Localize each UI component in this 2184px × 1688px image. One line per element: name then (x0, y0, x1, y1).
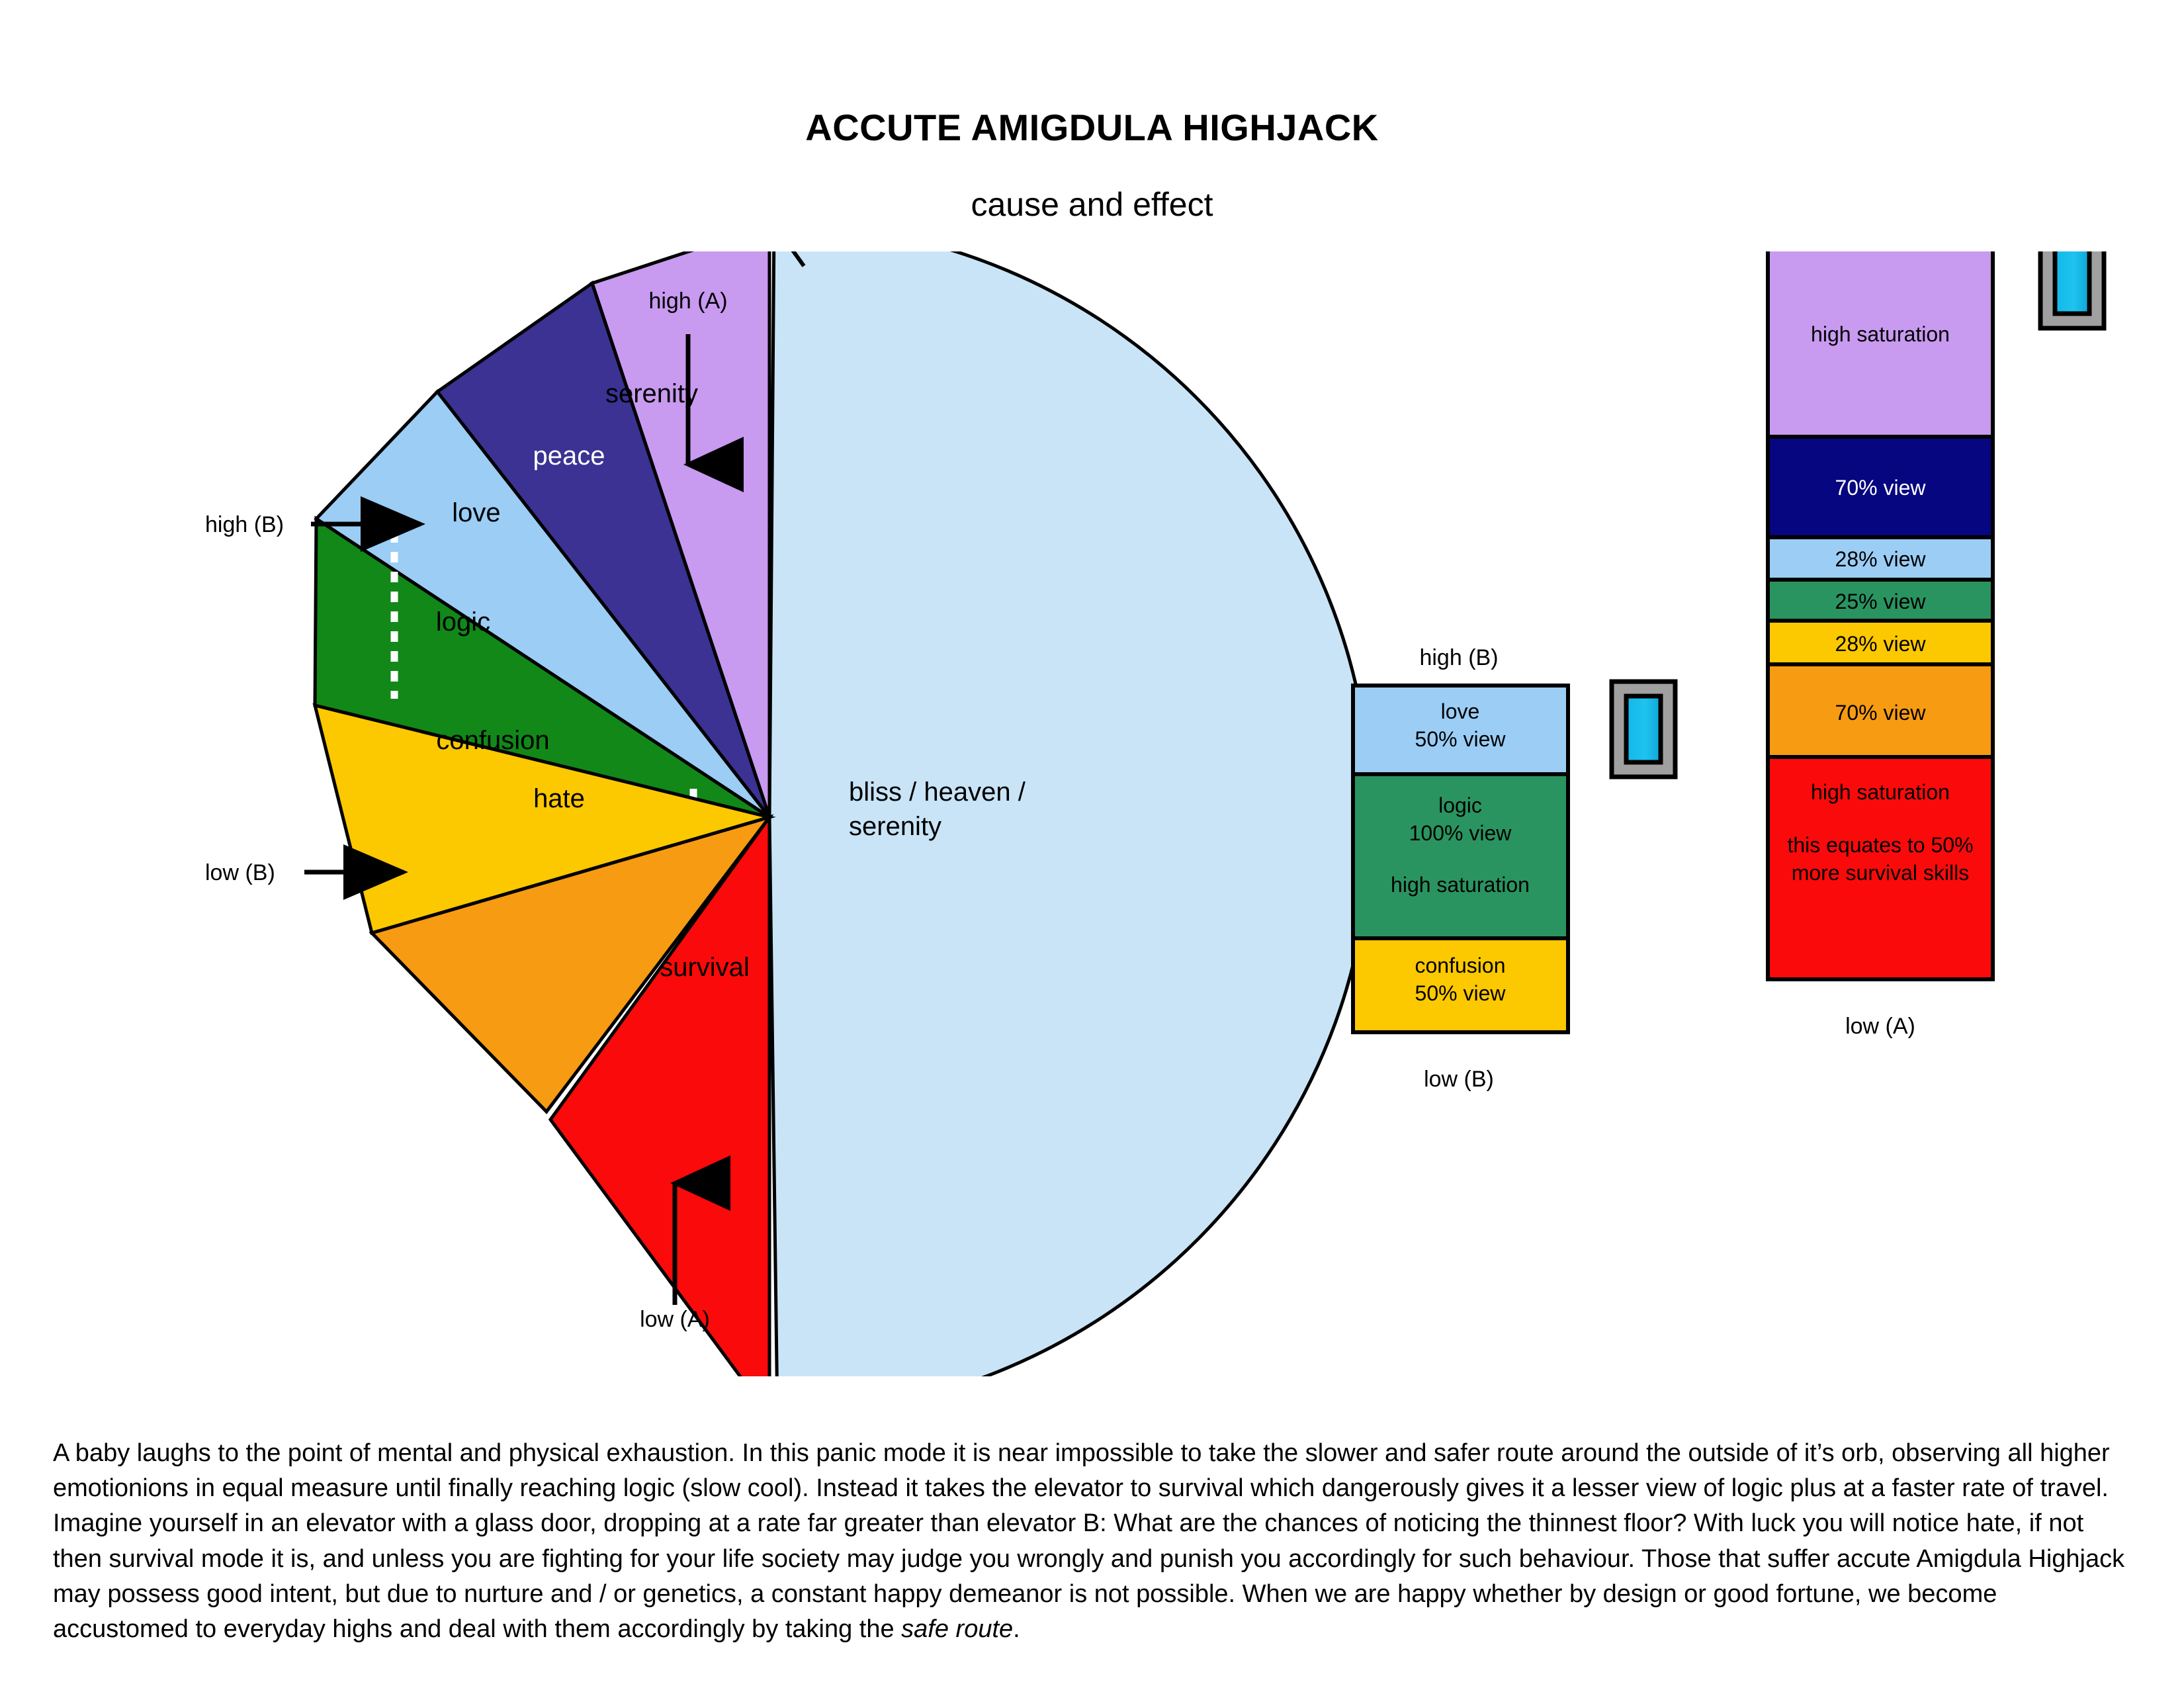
pie-label-confusion: confusion (436, 726, 549, 755)
elevator-a-floor-hate-line1: 70% view (1835, 701, 1927, 725)
elevator-b-floor-logic-line3: high saturation (1391, 873, 1530, 897)
pie-label-peace: peace (533, 441, 605, 470)
page-title: ACCUTE AMIGDULA HIGHJACK (0, 106, 2184, 149)
elevator-a-floor-confusion[interactable]: 28% view (1768, 621, 1993, 664)
elevator-a-bottom-label: low (A) (1845, 1014, 1915, 1039)
elevator-a-floor-survival[interactable]: high saturation this equates to 50% more… (1768, 757, 1993, 979)
pie-label-survival: survival (660, 953, 750, 982)
elevator-a-floor-serenity[interactable]: high saturation (1768, 251, 1993, 437)
elevator-b-icon[interactable] (1612, 682, 1675, 777)
pie-label-love: love (452, 498, 500, 527)
diagram-canvas: bliss / heaven / serenity serenity peace… (0, 251, 2184, 1376)
pie-label-hate: hate (533, 784, 585, 813)
pie-center-label-line2: serenity (849, 812, 941, 841)
footer-paragraph-italic: safe route (901, 1615, 1013, 1643)
elevator-a-floor-confusion-line1: 28% view (1835, 632, 1927, 656)
elevator-a-floor-love[interactable]: 28% view (1768, 537, 1993, 580)
elevator-a-floor-logic[interactable]: 25% view (1768, 580, 1993, 621)
elevator-b-floor-love-line1: love (1441, 699, 1480, 723)
page-subtitle: cause and effect (0, 185, 2184, 224)
pie-arrow-label-low-a: low (A) (640, 1307, 710, 1332)
elevator-a-floor-peace[interactable]: 70% view (1768, 437, 1993, 537)
pie-arrow-label-low-b: low (B) (205, 860, 275, 885)
elevator-b-floor-logic-line2: 100% view (1409, 821, 1512, 845)
elevator-a-floor-logic-line1: 25% view (1835, 590, 1927, 613)
elevator-b-floor-confusion-line1: confusion (1415, 954, 1506, 977)
elevator-b-floor-logic-line1: logic (1438, 793, 1482, 817)
elevator-a-floor-survival-line3: more survival skills (1792, 861, 1969, 885)
elevator-b-floor-logic[interactable]: logic 100% view high saturation (1353, 774, 1568, 938)
elevator-a-icon[interactable] (2040, 251, 2104, 328)
elevator-b-top-label: high (B) (1419, 645, 1498, 670)
footer-paragraph: A baby laughs to the point of mental and… (53, 1436, 2130, 1647)
elevator-a-floor-survival-line1: high saturation (1811, 780, 1950, 804)
elevator-b-floor-love[interactable]: love 50% view (1353, 686, 1568, 774)
elevator-a-floor-hate[interactable]: 70% view (1768, 664, 1993, 757)
footer-paragraph-part2: . (1013, 1615, 1020, 1643)
elevator-b-floor-confusion-line2: 50% view (1415, 981, 1507, 1005)
footer-paragraph-part1: A baby laughs to the point of mental and… (53, 1439, 2124, 1643)
elevator-b-floor-confusion[interactable]: confusion 50% view (1353, 938, 1568, 1032)
pie-arrow-label-high-a: high (A) (648, 289, 727, 314)
elevator-a-floor-serenity-line1: high saturation (1811, 322, 1950, 346)
elevator-b-bottom-label: low (B) (1424, 1067, 1494, 1092)
pie-arrow-label-high-b: high (B) (205, 512, 284, 537)
elevator-a-floor-peace-line1: 70% view (1835, 476, 1927, 500)
elevator-a-floor-love-line1: 28% view (1835, 547, 1927, 571)
pie-label-serenity: serenity (605, 379, 698, 408)
pie-label-logic: logic (436, 607, 490, 637)
elevator-a-floor-survival-line2: this equates to 50% (1787, 833, 1973, 857)
elevator-b-floor-love-line2: 50% view (1415, 727, 1507, 751)
pie-center-label-line1: bliss / heaven / (849, 777, 1026, 807)
